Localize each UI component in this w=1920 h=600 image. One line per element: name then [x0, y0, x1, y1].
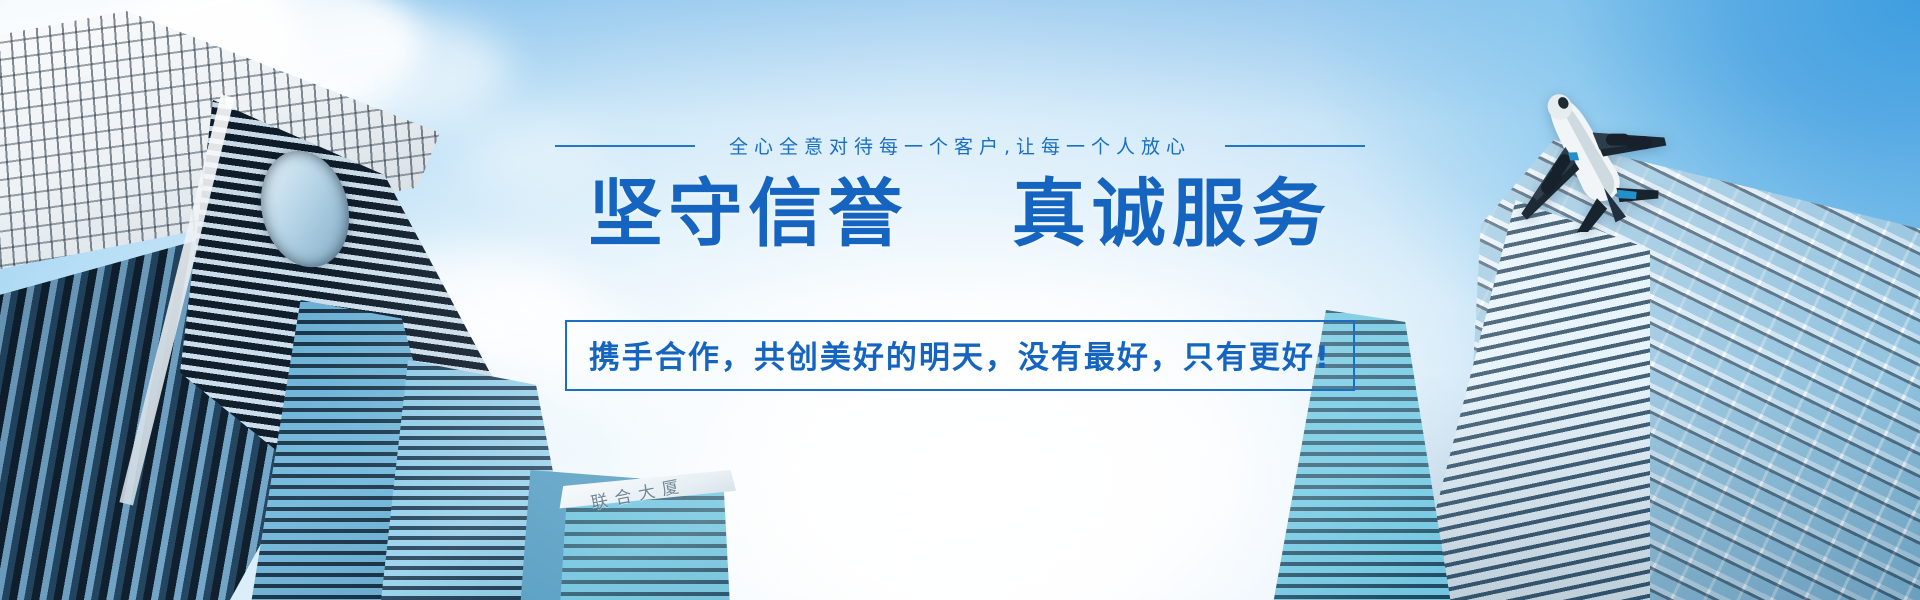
headline-part-2: 真诚服务 — [1012, 171, 1332, 257]
subtitle-wrap: 携手合作，共创美好的明天，没有最好，只有更好! — [0, 320, 1920, 391]
headline: 坚守信誉 真诚服务 — [0, 175, 1920, 255]
tagline-right-rule — [1225, 145, 1365, 147]
tagline-row: 全心全意对待每一个客户,让每一个人放心 — [0, 132, 1920, 159]
banner-content: 全心全意对待每一个客户,让每一个人放心 坚守信誉 真诚服务 携手合作，共创美好的… — [0, 0, 1920, 600]
tagline-text: 全心全意对待每一个客户,让每一个人放心 — [729, 132, 1191, 159]
hero-banner: 联合大厦 — [0, 0, 1920, 600]
subtitle-boxed-text: 携手合作，共创美好的明天，没有最好，只有更好! — [565, 320, 1355, 391]
headline-part-1: 坚守信誉 — [588, 171, 908, 257]
tagline-left-rule — [555, 145, 695, 147]
